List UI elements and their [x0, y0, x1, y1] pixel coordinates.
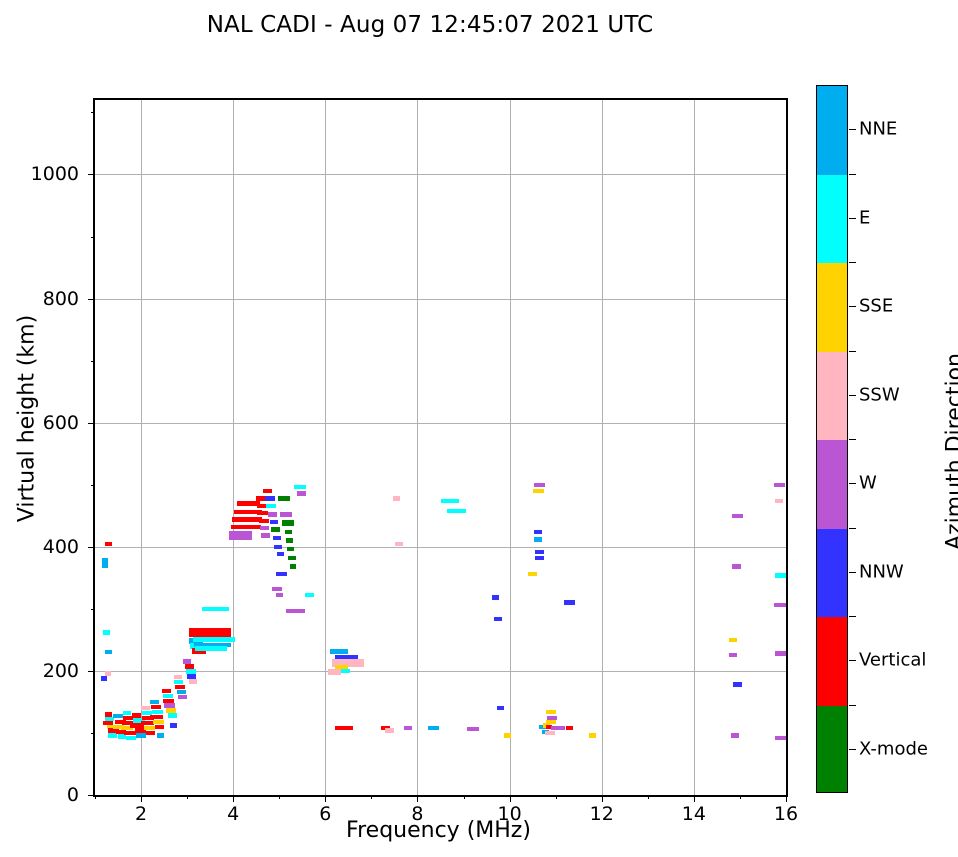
- x-tick-minor: [371, 795, 372, 799]
- echo-mark: [729, 653, 737, 657]
- x-tick: [602, 795, 603, 802]
- echo-mark: [335, 726, 353, 731]
- echo-mark: [105, 650, 112, 654]
- echo-mark: [294, 485, 305, 489]
- y-tick: [88, 671, 95, 672]
- echo-mark: [189, 628, 230, 637]
- echo-mark: [774, 603, 786, 607]
- y-tick-minor: [91, 361, 95, 362]
- colorbar-boundary-tick: [849, 616, 856, 617]
- echo-mark: [174, 680, 183, 684]
- echo-mark: [102, 558, 108, 562]
- echo-mark: [153, 720, 164, 724]
- echo-mark: [163, 694, 173, 698]
- echo-mark: [202, 607, 230, 611]
- gridline-vertical: [510, 100, 511, 795]
- echo-mark: [157, 733, 164, 737]
- echo-mark: [528, 572, 536, 576]
- x-tick: [233, 795, 234, 802]
- echo-mark: [729, 638, 737, 642]
- echo-mark: [231, 525, 261, 529]
- echo-mark: [775, 499, 783, 503]
- colorbar-label-w: W: [859, 473, 877, 494]
- echo-mark: [113, 714, 122, 718]
- echo-mark: [261, 533, 269, 537]
- echo-mark: [564, 600, 575, 604]
- colorbar-label-sse: SSE: [859, 296, 893, 317]
- echo-mark: [123, 711, 131, 715]
- echo-mark: [290, 564, 296, 568]
- echo-mark: [278, 496, 290, 502]
- gridline-vertical: [325, 100, 326, 795]
- echo-mark: [152, 710, 163, 714]
- echo-mark: [545, 731, 555, 735]
- x-tick: [510, 795, 511, 802]
- colorbar-label-e: E: [859, 207, 870, 228]
- echo-mark: [232, 517, 262, 521]
- echo-mark: [257, 504, 267, 508]
- plot-axes: 24681012141602004006008001000: [93, 98, 788, 797]
- colorbar-label-nnw: NNW: [859, 561, 904, 582]
- echo-mark: [168, 713, 177, 717]
- echo-mark: [155, 725, 164, 729]
- colorbar-tick: [849, 749, 856, 750]
- echo-mark: [276, 572, 287, 576]
- y-tick: [88, 174, 95, 175]
- colorbar-label-nne: NNE: [859, 119, 897, 140]
- echo-mark: [733, 682, 742, 686]
- echo-mark: [271, 527, 279, 531]
- colorbar-segment-x-mode: [817, 706, 847, 794]
- echo-mark: [286, 538, 293, 542]
- echo-mark: [126, 736, 135, 740]
- echo-mark: [170, 723, 177, 727]
- echo-mark: [280, 512, 292, 518]
- colorbar-boundary-tick: [849, 705, 856, 706]
- echo-mark: [150, 715, 163, 719]
- gridline-horizontal: [95, 299, 786, 300]
- echo-mark: [330, 649, 348, 654]
- x-tick-minor: [187, 795, 188, 799]
- echo-mark: [193, 637, 234, 642]
- gridline-horizontal: [95, 174, 786, 175]
- echo-mark: [183, 659, 191, 663]
- echo-mark: [103, 630, 110, 634]
- x-tick-minor: [464, 795, 465, 799]
- y-tick: [88, 299, 95, 300]
- x-tick: [141, 795, 142, 802]
- echo-mark: [305, 593, 314, 597]
- echo-mark: [186, 669, 196, 673]
- echo-mark: [732, 564, 741, 568]
- echo-mark: [504, 733, 511, 737]
- x-tick: [325, 795, 326, 802]
- x-tick-minor: [740, 795, 741, 799]
- echo-mark: [551, 726, 566, 730]
- gridline-vertical: [602, 100, 603, 795]
- echo-mark: [185, 664, 194, 668]
- y-tick-label: 0: [67, 784, 79, 806]
- echo-mark: [270, 520, 278, 524]
- x-tick-minor: [556, 795, 557, 799]
- colorbar-boundary-tick: [849, 528, 856, 529]
- echo-mark: [272, 587, 281, 591]
- echo-mark: [385, 728, 394, 732]
- colorbar-segment-vertical: [817, 617, 847, 706]
- echo-mark: [494, 617, 501, 621]
- echo-mark: [492, 595, 499, 599]
- echo-mark: [534, 530, 542, 534]
- echo-mark: [566, 726, 573, 730]
- echo-mark: [174, 675, 182, 679]
- plot-canvas: [95, 100, 786, 795]
- echo-mark: [286, 609, 304, 613]
- echo-mark: [132, 713, 141, 717]
- echo-mark: [108, 733, 117, 737]
- echo-mark: [393, 496, 400, 500]
- echo-mark: [265, 496, 274, 500]
- echo-mark: [467, 727, 479, 731]
- echo-mark: [276, 593, 283, 597]
- y-tick-label: 600: [43, 412, 79, 434]
- echo-mark: [533, 489, 544, 493]
- x-tick-minor: [95, 795, 96, 799]
- colorbar-label-ssw: SSW: [859, 384, 900, 405]
- colorbar: [816, 85, 848, 793]
- echo-mark: [774, 483, 785, 487]
- echo-mark: [288, 556, 295, 560]
- x-tick-minor: [648, 795, 649, 799]
- y-tick-label: 200: [43, 660, 79, 682]
- echo-mark: [177, 690, 186, 694]
- echo-mark: [102, 563, 108, 567]
- colorbar-segment-e: [817, 175, 847, 264]
- echo-mark: [731, 733, 739, 737]
- gridline-horizontal: [95, 547, 786, 548]
- gridline-vertical: [694, 100, 695, 795]
- gridline-horizontal: [95, 423, 786, 424]
- echo-mark: [535, 550, 544, 554]
- echo-mark: [287, 547, 294, 551]
- echo-mark: [775, 736, 786, 740]
- echo-mark: [589, 733, 595, 737]
- echo-mark: [166, 708, 176, 712]
- echo-mark: [146, 731, 155, 735]
- y-axis-label: Virtual height (km): [15, 259, 40, 579]
- gridline-vertical: [141, 100, 142, 795]
- echo-mark: [151, 705, 161, 709]
- echo-mark: [266, 504, 275, 508]
- y-tick: [88, 547, 95, 548]
- echo-mark: [428, 726, 440, 730]
- echo-mark: [257, 511, 268, 515]
- echo-mark: [775, 651, 786, 655]
- colorbar-label-x-mode: X-mode: [859, 738, 928, 759]
- echo-mark: [534, 537, 542, 541]
- echo-mark: [260, 526, 269, 530]
- echo-mark: [187, 674, 196, 678]
- echo-mark: [546, 710, 555, 714]
- gridline-vertical: [417, 100, 418, 795]
- x-tick-minor: [279, 795, 280, 799]
- echo-mark: [256, 496, 265, 500]
- x-tick: [417, 795, 418, 802]
- echo-mark: [297, 491, 306, 495]
- echo-mark: [535, 556, 544, 560]
- echo-mark: [775, 573, 786, 577]
- echo-mark: [732, 514, 743, 518]
- colorbar-segment-ssw: [817, 352, 847, 441]
- echo-mark: [144, 726, 155, 730]
- echo-mark: [150, 700, 159, 704]
- y-tick: [88, 423, 95, 424]
- echo-mark: [263, 489, 272, 493]
- page-title: NAL CADI - Aug 07 12:45:07 2021 UTC: [0, 12, 860, 38]
- echo-mark: [395, 542, 402, 546]
- colorbar-label: Azimuth Direction: [943, 292, 958, 612]
- echo-mark: [534, 483, 545, 487]
- echo-mark: [328, 669, 342, 675]
- echo-mark: [282, 520, 294, 526]
- colorbar-boundary-tick: [849, 174, 856, 175]
- echo-mark: [259, 519, 269, 523]
- echo-mark: [447, 509, 465, 513]
- echo-mark: [136, 733, 145, 737]
- echo-mark: [404, 726, 412, 730]
- echo-mark: [118, 734, 126, 738]
- echo-mark: [497, 706, 503, 710]
- echo-mark: [141, 706, 150, 710]
- ionogram-figure: NAL CADI - Aug 07 12:45:07 2021 UTC 2468…: [0, 0, 958, 857]
- y-tick-minor: [91, 609, 95, 610]
- colorbar-tick: [849, 483, 856, 484]
- echo-mark: [277, 552, 284, 556]
- colorbar-tick: [849, 129, 856, 130]
- colorbar-tick: [849, 660, 856, 661]
- echo-mark: [175, 685, 185, 689]
- colorbar-tick: [849, 306, 856, 307]
- colorbar-tick: [849, 218, 856, 219]
- echo-mark: [195, 646, 227, 650]
- x-axis-label: Frequency (MHz): [93, 818, 784, 843]
- x-tick: [786, 795, 787, 802]
- gridline-horizontal: [95, 671, 786, 672]
- y-tick: [88, 795, 95, 796]
- y-tick-label: 400: [43, 536, 79, 558]
- y-tick-minor: [91, 237, 95, 238]
- echo-mark: [101, 676, 107, 680]
- colorbar-label-vertical: Vertical: [859, 650, 926, 671]
- x-tick: [694, 795, 695, 802]
- colorbar-boundary-tick: [849, 439, 856, 440]
- echo-mark: [162, 689, 171, 693]
- colorbar-segment-sse: [817, 263, 847, 352]
- y-tick-label: 800: [43, 288, 79, 310]
- colorbar-segment-w: [817, 440, 847, 529]
- colorbar-boundary-tick: [849, 262, 856, 263]
- y-tick-label: 1000: [31, 163, 79, 185]
- colorbar-segment-nnw: [817, 529, 847, 618]
- gridline-vertical: [233, 100, 234, 795]
- y-tick-minor: [91, 112, 95, 113]
- colorbar-tick: [849, 572, 856, 573]
- echo-mark: [285, 530, 292, 534]
- echo-mark: [105, 542, 112, 546]
- echo-mark: [273, 536, 281, 540]
- echo-mark: [163, 699, 174, 703]
- echo-mark: [164, 703, 175, 707]
- echo-mark: [105, 671, 111, 675]
- echo-mark: [105, 712, 112, 716]
- echo-mark: [178, 695, 186, 699]
- y-tick-minor: [91, 485, 95, 486]
- colorbar-tick: [849, 395, 856, 396]
- y-tick-minor: [91, 733, 95, 734]
- echo-mark: [189, 679, 197, 683]
- colorbar-segment-nne: [817, 86, 847, 175]
- echo-mark: [274, 545, 282, 549]
- echo-mark: [229, 531, 252, 540]
- colorbar-boundary-tick: [849, 351, 856, 352]
- echo-mark: [268, 512, 277, 516]
- echo-mark: [441, 499, 459, 503]
